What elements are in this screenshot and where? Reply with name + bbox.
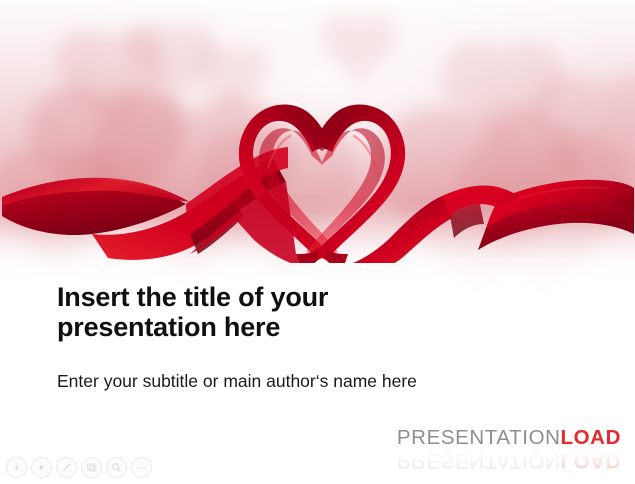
logo-reflection-presentation-text: PRESENTATION — [397, 449, 561, 472]
pen-icon — [61, 462, 72, 473]
more-options-button[interactable] — [131, 457, 152, 478]
slides-icon — [86, 462, 97, 473]
ellipsis-icon — [136, 465, 147, 470]
slide-subtitle[interactable]: Enter your subtitle or main author‘s nam… — [57, 342, 577, 392]
zoom-button[interactable] — [106, 457, 127, 478]
logo-load-text: LOAD — [561, 426, 621, 449]
page-title[interactable]: Insert the title of your presentation he… — [57, 282, 387, 342]
triangle-left-icon — [12, 463, 21, 472]
ribbon-heart-graphic — [0, 48, 635, 263]
presentation-slide: Insert the title of your presentation he… — [0, 0, 635, 484]
presentationload-logo: PRESENTATIONLOAD PRESENTATIONLOAD — [397, 428, 621, 470]
triangle-right-icon — [37, 463, 46, 472]
logo-reflection-load-text: LOAD — [561, 449, 621, 472]
presentation-viewer-toolbar — [6, 457, 152, 478]
magnifier-icon — [111, 462, 122, 473]
logo-reflection: PRESENTATIONLOAD — [397, 450, 621, 471]
logo-text: PRESENTATIONLOAD — [397, 428, 621, 449]
next-slide-button[interactable] — [31, 457, 52, 478]
pen-tool-button[interactable] — [56, 457, 77, 478]
slide-view-button[interactable] — [81, 457, 102, 478]
logo-presentation-text: PRESENTATION — [397, 426, 561, 449]
previous-slide-button[interactable] — [6, 457, 27, 478]
slide-text-block: Insert the title of your presentation he… — [57, 282, 577, 392]
